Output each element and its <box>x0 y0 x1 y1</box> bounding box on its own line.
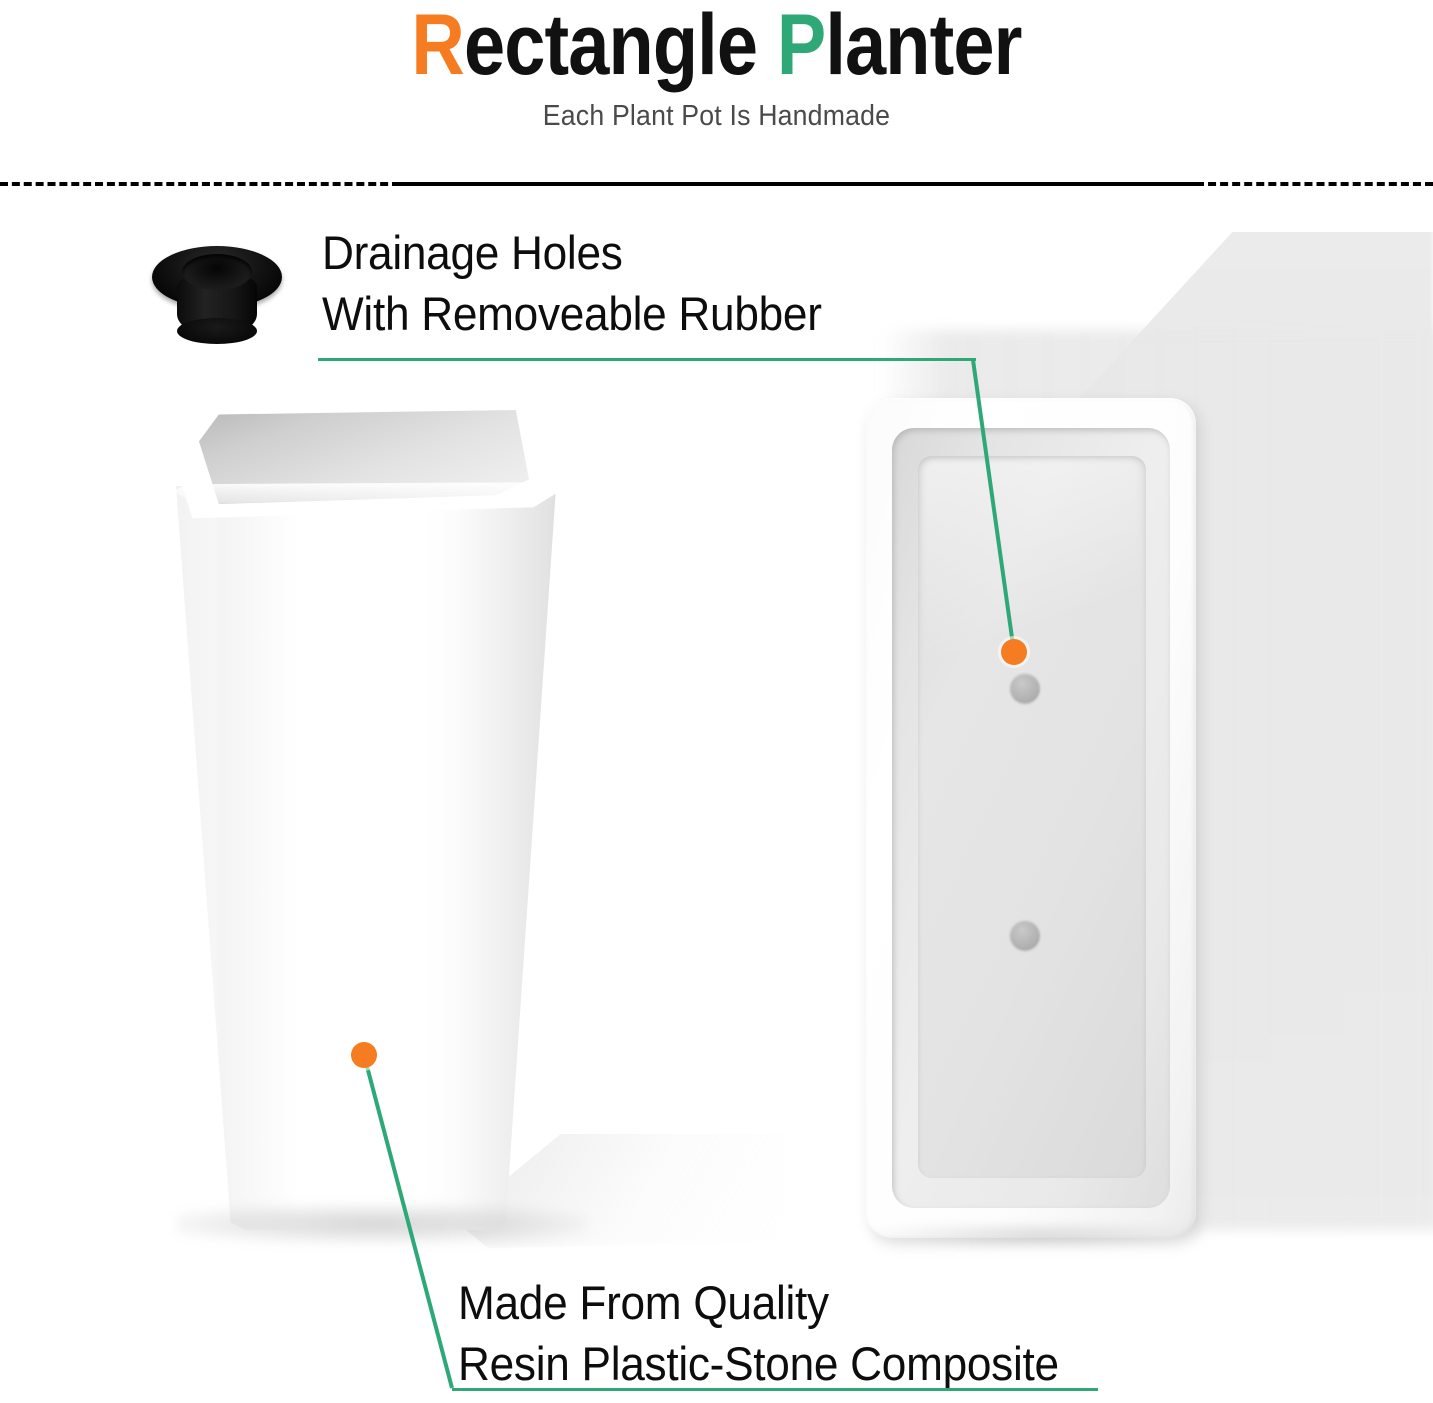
header: Rectangle Planter Each Plant Pot Is Hand… <box>0 0 1433 133</box>
divider-dash-left <box>0 182 400 186</box>
divider-dash-right <box>1196 182 1433 186</box>
callout-drainage-line-1: Drainage Holes <box>322 222 942 283</box>
page-title: Rectangle Planter <box>100 0 1332 90</box>
infographic-canvas: Rectangle Planter Each Plant Pot Is Hand… <box>0 0 1433 1403</box>
rubber-grommet-icon <box>152 238 282 346</box>
callout-drainage-underline <box>318 358 976 361</box>
grommet-base-icon <box>177 318 257 344</box>
drainage-hole-top <box>1010 673 1040 703</box>
divider-solid-middle <box>396 182 1200 186</box>
tall-planter-body-shading <box>155 486 575 1230</box>
title-initial-r: R <box>411 0 464 93</box>
callout-drainage-line-2: With Removeable Rubber <box>322 283 942 344</box>
tall-planter-floor-shadow <box>177 1204 587 1244</box>
flat-planter-floor-shadow <box>872 1222 1204 1248</box>
flat-planter-floor-highlight <box>922 460 1140 660</box>
callout-material-line-2: Resin Plastic-Stone Composite <box>458 1333 1154 1394</box>
header-divider <box>0 182 1433 187</box>
tall-planter-image <box>155 398 575 1230</box>
title-space <box>757 0 777 93</box>
grommet-bore-icon <box>182 254 252 290</box>
flat-planter-image <box>866 398 1196 1238</box>
callout-drainage-text: Drainage Holes With Removeable Rubber <box>322 222 982 344</box>
page-subtitle: Each Plant Pot Is Handmade <box>57 90 1375 133</box>
callout-material-underline <box>452 1388 1098 1391</box>
callout-material-text: Made From Quality Resin Plastic-Stone Co… <box>458 1272 1198 1394</box>
marker-dot-material <box>351 1042 377 1068</box>
callout-material-line-1: Made From Quality <box>458 1272 1154 1333</box>
title-initial-p: P <box>777 0 825 93</box>
marker-dot-drainage <box>1001 639 1027 665</box>
title-word-rectangle: ectangle <box>464 0 757 93</box>
title-word-planter: lanter <box>825 0 1021 93</box>
drainage-hole-bottom <box>1010 920 1040 950</box>
